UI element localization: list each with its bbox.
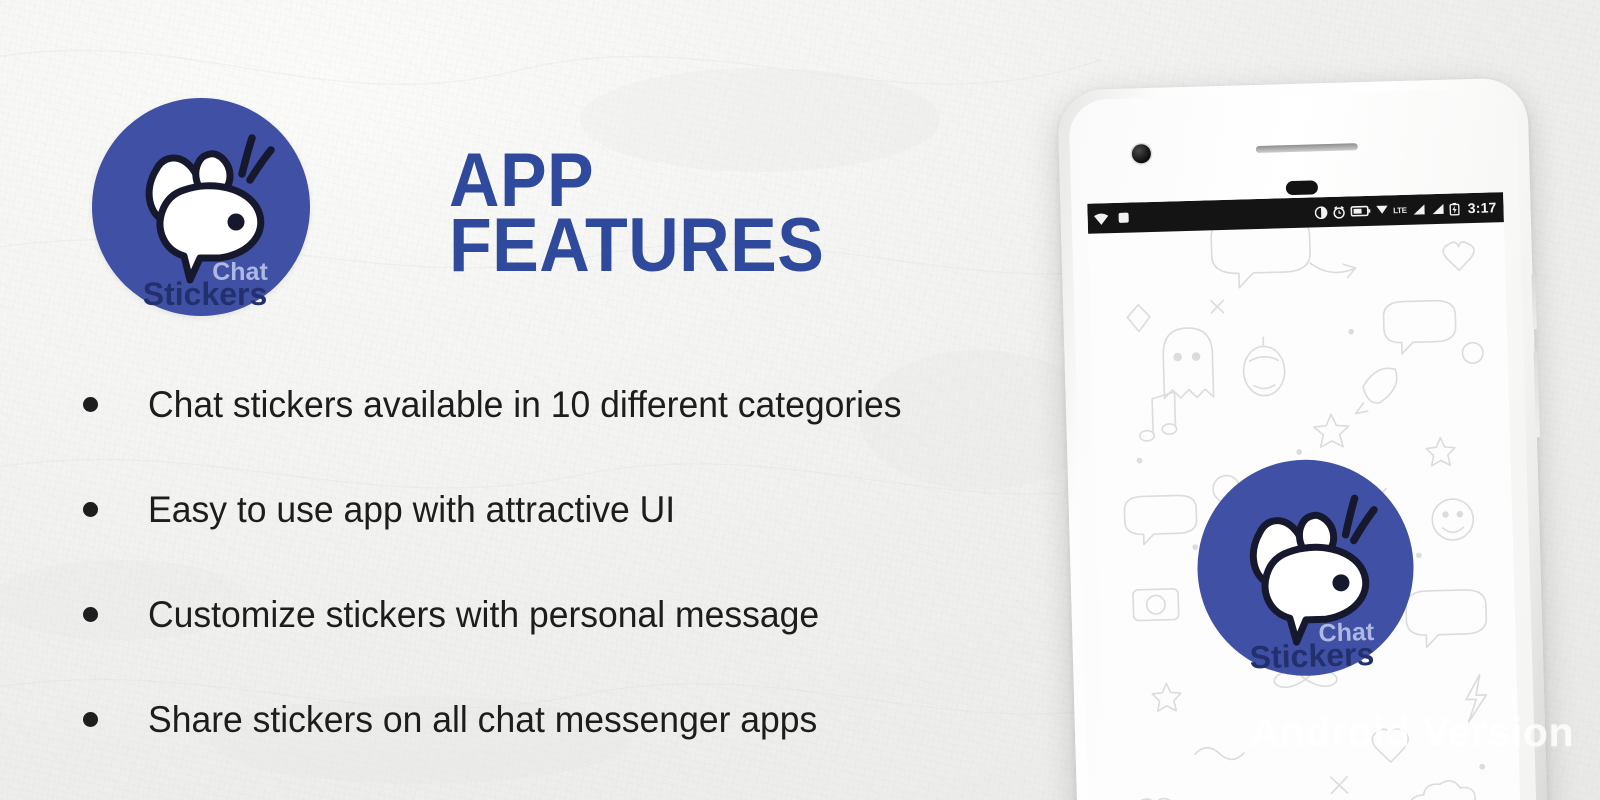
earpiece-speaker-icon [1256, 143, 1358, 153]
contrast-icon [1314, 206, 1327, 219]
feature-item-1: Chat stickers available in 10 different … [74, 352, 1024, 457]
status-bar-left [1093, 211, 1129, 225]
app-notification-icon [1118, 212, 1130, 224]
phone-bezel: LTE 3:17 [1068, 88, 1536, 800]
app-icon-bunny-chat-mark: Chat Stickers [1195, 457, 1417, 679]
chat-stickers-app-icon[interactable]: Chat Stickers [1195, 457, 1417, 679]
bullet-dot-icon [83, 502, 98, 517]
feature-item-1-label: Chat stickers available in 10 different … [148, 384, 902, 426]
app-features-banner: Chat Stickers APP FEATURES Chat stickers… [0, 0, 1600, 800]
app-icon-word-stickers: Stickers [1249, 636, 1374, 675]
logo-word-stickers: Stickers [143, 276, 268, 312]
feature-item-4-label: Share stickers on all chat messenger app… [148, 699, 817, 741]
battery-saver-icon [1350, 205, 1370, 218]
feature-item-2: Easy to use app with attractive UI [74, 457, 1024, 562]
feature-item-3: Customize stickers with personal message [74, 562, 1024, 667]
battery-icon [1450, 202, 1460, 215]
page-title: APP FEATURES [449, 148, 857, 279]
proximity-sensor-icon [1286, 180, 1318, 195]
feature-item-4: Share stickers on all chat messenger app… [74, 667, 1024, 772]
page-title-line-2: FEATURES [449, 213, 824, 278]
front-camera-icon [1132, 144, 1152, 164]
brand-logo: Chat Stickers [92, 98, 310, 316]
signal-bars-icon [1412, 203, 1426, 215]
bullet-dot-icon [83, 712, 98, 727]
status-bar-clock: 3:17 [1467, 199, 1496, 216]
wifi-icon [1093, 212, 1108, 225]
phone-mockup: LTE 3:17 [1057, 77, 1548, 800]
bullet-dot-icon [83, 607, 98, 622]
status-bar-right: LTE 3:17 [1314, 199, 1497, 220]
signal-bars-2-icon [1431, 203, 1445, 215]
lte-icon: LTE [1393, 205, 1407, 214]
download-icon [1375, 204, 1388, 216]
logo-bunny-chat-mark: Chat Stickers [92, 98, 310, 316]
feature-item-2-label: Easy to use app with attractive UI [148, 489, 675, 531]
phone-screen[interactable]: LTE 3:17 [1087, 192, 1521, 800]
feature-item-3-label: Customize stickers with personal message [148, 594, 819, 636]
alarm-icon [1332, 205, 1345, 218]
feature-list: Chat stickers available in 10 different … [74, 352, 1024, 772]
bullet-dot-icon [83, 397, 98, 412]
